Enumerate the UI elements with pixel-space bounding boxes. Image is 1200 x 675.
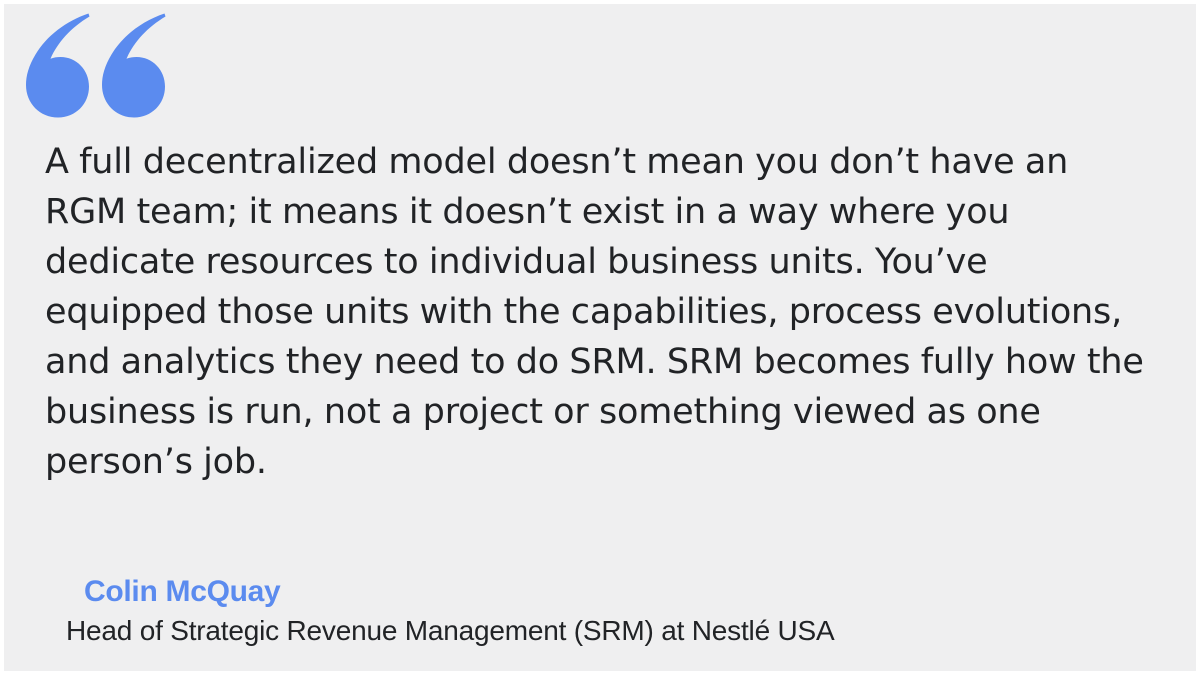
attribution-title: Head of Strategic Revenue Management (SR… bbox=[66, 611, 1166, 651]
attribution: Colin McQuay Head of Strategic Revenue M… bbox=[66, 573, 1166, 651]
quote-card: A full decentralized model doesn’t mean … bbox=[4, 4, 1196, 671]
double-quote-open-icon bbox=[20, 12, 170, 118]
quote-text: A full decentralized model doesn’t mean … bbox=[45, 137, 1155, 487]
attribution-name: Colin McQuay bbox=[66, 573, 1166, 611]
